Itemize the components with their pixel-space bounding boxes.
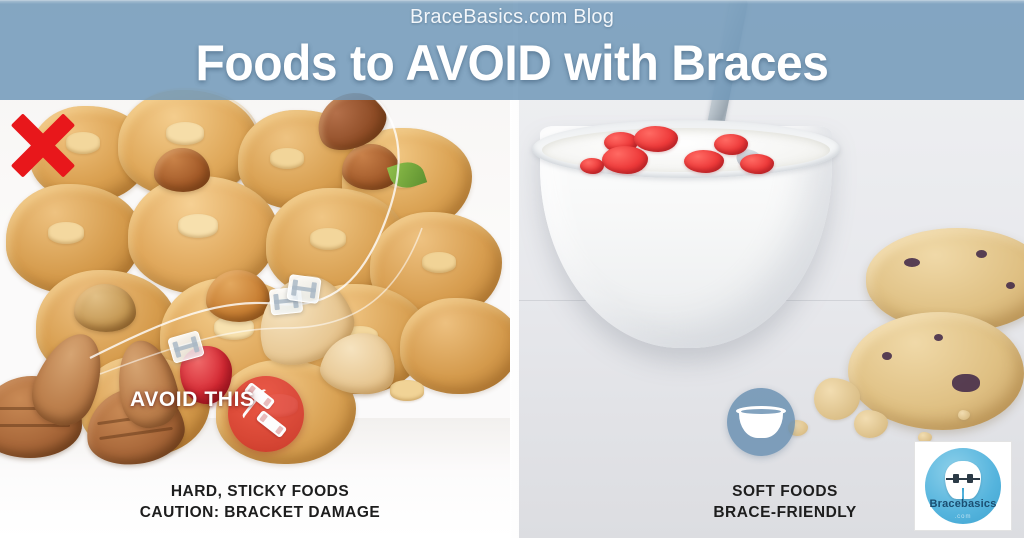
left-caption-line2: CAUTION: BRACKET DAMAGE [90, 502, 430, 523]
site-eyebrow: BraceBasics.com Blog [0, 6, 1024, 29]
right-caption-line1: SOFT FOODS [640, 481, 930, 502]
header-band: BraceBasics.com Blog Foods to AVOID with… [0, 0, 1024, 100]
berry-piece [684, 150, 724, 173]
infographic-canvas: AVOID THIS HARD, STICKY FOODS CAUTION: B… [0, 0, 1024, 538]
logo-subtext: .com [925, 514, 1001, 520]
berry-piece [714, 134, 748, 155]
page-title: Foods to AVOID with Braces [20, 36, 1003, 90]
bowl-rim-icon [736, 406, 786, 416]
berry-piece [580, 158, 604, 174]
berry-piece [602, 146, 648, 174]
red-x-mark-icon [6, 108, 80, 182]
bracebasics-logo[interactable]: Bracebasics .com [914, 441, 1012, 531]
orthodontic-bracket-icon [286, 274, 321, 304]
avoid-this-label: AVOID THIS [130, 388, 261, 412]
logo-text: Bracebasics [925, 498, 1001, 510]
soft-foods-badge [727, 388, 795, 456]
panel-divider [510, 100, 519, 538]
left-caption: HARD, STICKY FOODS CAUTION: BRACKET DAMA… [90, 481, 430, 523]
berry-piece [740, 154, 774, 174]
logo-circle: Bracebasics .com [925, 448, 1001, 524]
right-caption-line2: BRACE-FRIENDLY [640, 502, 930, 523]
right-caption: SOFT FOODS BRACE-FRIENDLY [640, 481, 930, 523]
left-caption-line1: HARD, STICKY FOODS [90, 481, 430, 502]
cookie-crumb [854, 410, 888, 438]
tooth-with-braces-icon [945, 461, 981, 499]
cookie-crumb [814, 378, 860, 420]
avoid-this-badge: AVOID THIS [130, 388, 261, 412]
berry-piece [634, 126, 678, 152]
